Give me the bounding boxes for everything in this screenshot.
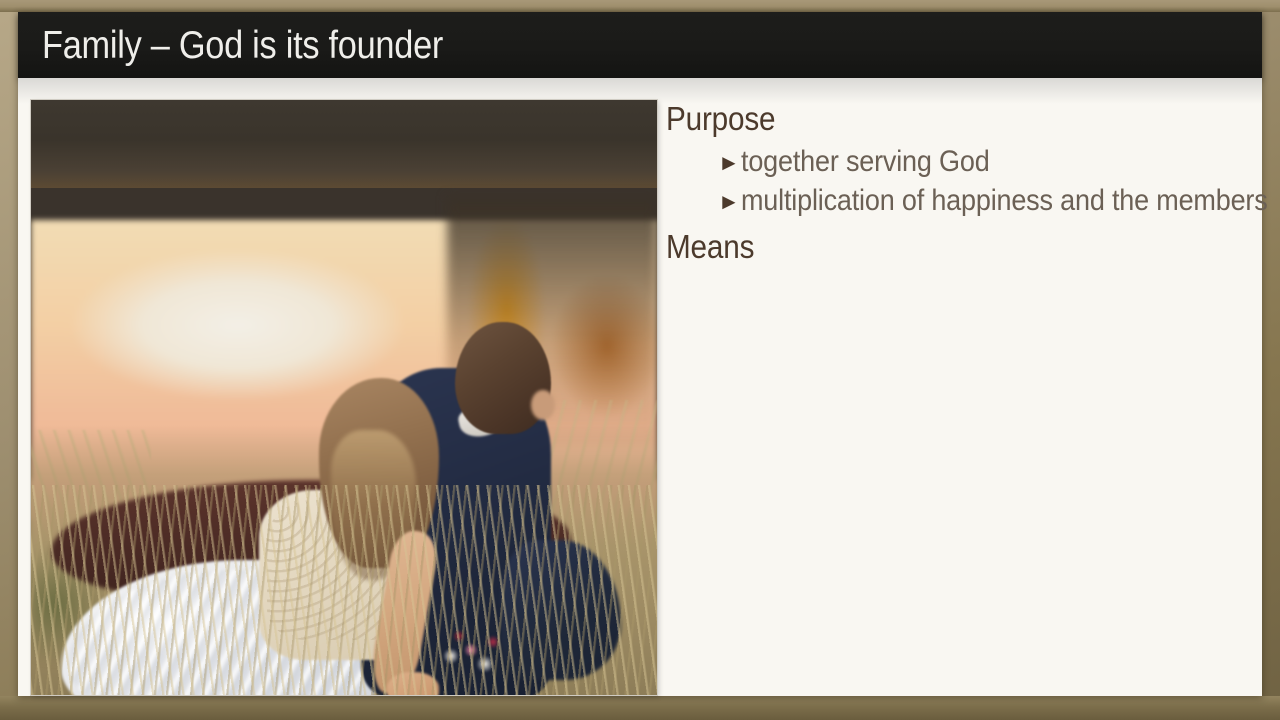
list-item: ► multiplication of happiness and the me… — [718, 181, 1254, 220]
slide: Family – God is its founder — [0, 0, 1280, 720]
page-title: Family – God is its founder — [42, 26, 443, 65]
triangle-bullet-icon: ► — [718, 191, 740, 213]
bullet-text: together serving God — [741, 142, 990, 181]
slide-title-bar: Family – God is its founder — [18, 12, 1262, 78]
bullet-text: multiplication of happiness and the memb… — [741, 181, 1268, 220]
photo-canvas — [31, 100, 657, 695]
triangle-bullet-icon: ► — [718, 152, 740, 174]
section-heading-means: Means — [666, 226, 1195, 268]
content-text-column: Purpose ► together serving God ► multipl… — [666, 98, 1254, 678]
list-item: ► together serving God — [718, 142, 1254, 181]
slide-frame-top — [0, 0, 1280, 12]
slide-frame-bottom — [0, 696, 1280, 720]
wedding-couple-photo — [31, 100, 657, 695]
section-heading-purpose: Purpose — [666, 98, 1195, 140]
photo-groom-ear — [531, 390, 555, 420]
slide-body: Purpose ► together serving God ► multipl… — [18, 78, 1262, 696]
photo-bouquet — [429, 620, 519, 682]
